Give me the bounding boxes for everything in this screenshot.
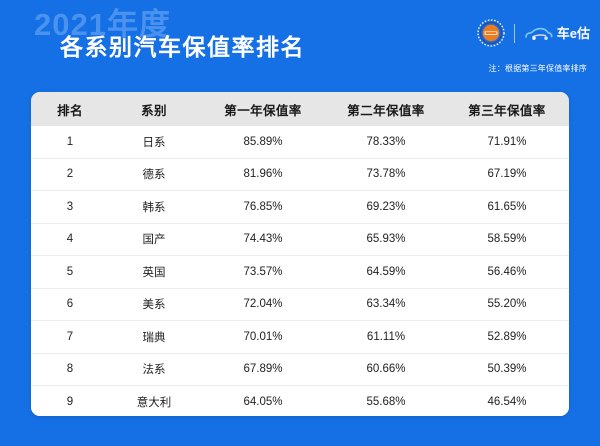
sort-note: 注：根据第三年保值率排序	[489, 63, 587, 74]
cell-year3: 61.65%	[445, 191, 569, 224]
table-row: 3韩系76.85%69.23%61.65%	[31, 191, 569, 224]
cell-series: 瑞典	[109, 321, 199, 354]
cell-series: 美系	[109, 288, 199, 321]
table-row: 7瑞典70.01%61.11%52.89%	[31, 321, 569, 354]
cell-rank: 8	[31, 353, 109, 386]
poster-root: 2021年度 各系别汽车保值率排名	[0, 0, 600, 446]
cell-year2: 69.23%	[327, 191, 445, 224]
cell-series: 日系	[109, 126, 199, 158]
cell-year3: 52.89%	[445, 321, 569, 354]
cell-rank: 9	[31, 386, 109, 417]
table-body: 1日系85.89%78.33%71.91%2德系81.96%73.78%67.1…	[31, 126, 569, 416]
table-head: 排名 系别 第一年保值率 第二年保值率 第三年保值率	[31, 92, 569, 126]
cell-year3: 71.91%	[445, 126, 569, 158]
cell-year1: 76.85%	[199, 191, 327, 224]
table-row: 8法系67.89%60.66%50.39%	[31, 353, 569, 386]
cell-rank: 2	[31, 158, 109, 191]
cell-rank: 6	[31, 288, 109, 321]
cell-series: 法系	[109, 353, 199, 386]
table-row: 1日系85.89%78.33%71.91%	[31, 126, 569, 158]
cell-year2: 63.34%	[327, 288, 445, 321]
cell-series: 英国	[109, 256, 199, 289]
cell-year1: 73.57%	[199, 256, 327, 289]
cell-year2: 55.68%	[327, 386, 445, 417]
cell-year2: 60.66%	[327, 353, 445, 386]
cell-rank: 5	[31, 256, 109, 289]
cell-year3: 67.19%	[445, 158, 569, 191]
cell-year2: 65.93%	[327, 223, 445, 256]
ranking-card: 排名 系别 第一年保值率 第二年保值率 第三年保值率 1日系85.89%78.3…	[31, 92, 569, 416]
cell-series: 韩系	[109, 191, 199, 224]
column-header-series: 系别	[109, 92, 199, 126]
cell-year1: 70.01%	[199, 321, 327, 354]
table-row: 4国产74.43%65.93%58.59%	[31, 223, 569, 256]
cell-year3: 46.54%	[445, 386, 569, 417]
page-title: 各系别汽车保值率排名	[60, 36, 305, 59]
table-header-row: 排名 系别 第一年保值率 第二年保值率 第三年保值率	[31, 92, 569, 126]
brand-name-text: 车e估	[557, 27, 590, 40]
cell-year2: 64.59%	[327, 256, 445, 289]
logo-area: 车e估	[477, 19, 590, 47]
table-row: 9意大利64.05%55.68%46.54%	[31, 386, 569, 417]
cell-year3: 56.46%	[445, 256, 569, 289]
brand-logo: 车e估	[524, 25, 590, 42]
table-row: 5英国73.57%64.59%56.46%	[31, 256, 569, 289]
cell-rank: 4	[31, 223, 109, 256]
logo-divider	[514, 24, 515, 43]
cell-rank: 7	[31, 321, 109, 354]
poster-header: 2021年度 各系别汽车保值率排名	[0, 0, 600, 92]
column-header-year3: 第三年保值率	[445, 92, 569, 126]
ranking-table: 排名 系别 第一年保值率 第二年保值率 第三年保值率 1日系85.89%78.3…	[31, 92, 569, 416]
cell-year3: 50.39%	[445, 353, 569, 386]
cell-year3: 58.59%	[445, 223, 569, 256]
cell-year2: 73.78%	[327, 158, 445, 191]
circular-orange-badge-icon	[477, 19, 505, 47]
column-header-year1: 第一年保值率	[199, 92, 327, 126]
cell-year2: 78.33%	[327, 126, 445, 158]
cell-year3: 55.20%	[445, 288, 569, 321]
cell-year2: 61.11%	[327, 321, 445, 354]
cell-year1: 85.89%	[199, 126, 327, 158]
cell-year1: 64.05%	[199, 386, 327, 417]
cell-series: 德系	[109, 158, 199, 191]
car-outline-icon	[524, 25, 554, 42]
cell-year1: 72.04%	[199, 288, 327, 321]
cell-rank: 1	[31, 126, 109, 158]
cell-series: 意大利	[109, 386, 199, 417]
column-header-year2: 第二年保值率	[327, 92, 445, 126]
cell-year1: 74.43%	[199, 223, 327, 256]
cell-year1: 81.96%	[199, 158, 327, 191]
cell-series: 国产	[109, 223, 199, 256]
cell-year1: 67.89%	[199, 353, 327, 386]
table-row: 6美系72.04%63.34%55.20%	[31, 288, 569, 321]
table-row: 2德系81.96%73.78%67.19%	[31, 158, 569, 191]
column-header-rank: 排名	[31, 92, 109, 126]
cell-rank: 3	[31, 191, 109, 224]
